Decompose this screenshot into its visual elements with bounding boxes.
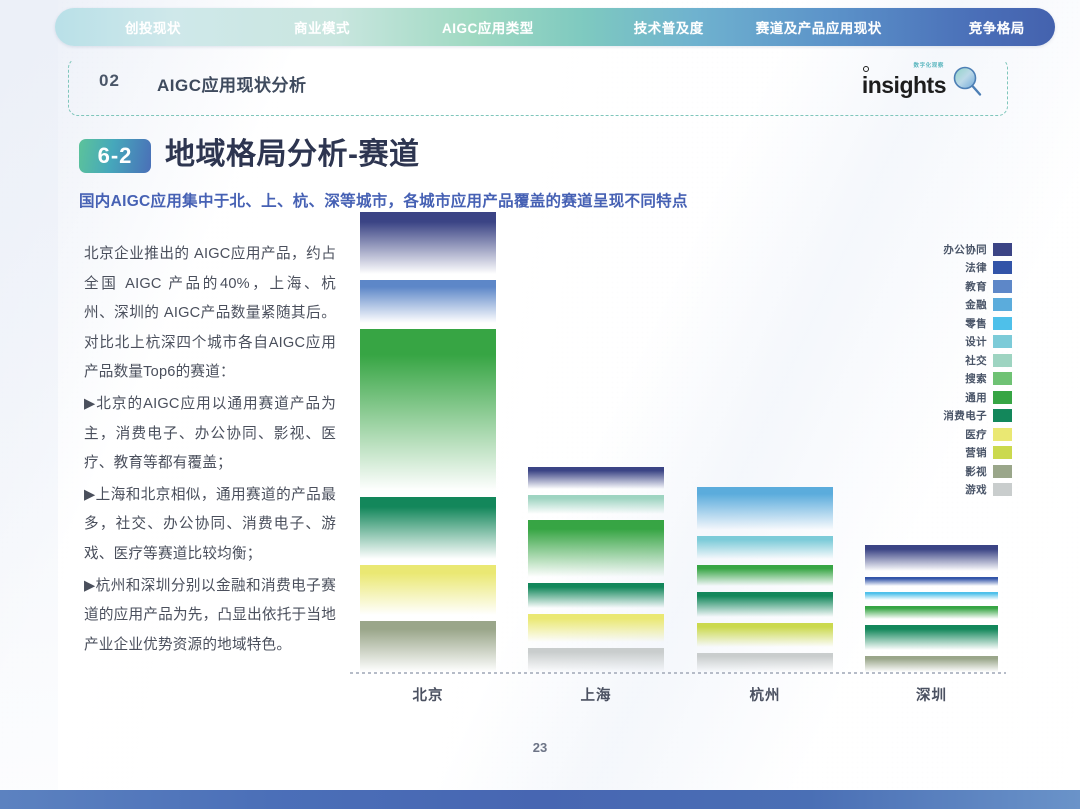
legend-item[interactable]: 零售 xyxy=(916,314,1012,333)
bar-segment[interactable] xyxy=(360,497,496,559)
left-edge-gradient xyxy=(0,0,58,809)
bar-segment[interactable] xyxy=(865,625,998,650)
nav-item-aigc-types[interactable]: AIGC应用类型 xyxy=(442,17,534,37)
legend-swatch xyxy=(993,243,1012,256)
legend-item[interactable]: 办公协同 xyxy=(916,240,1012,259)
legend-item[interactable]: 教育 xyxy=(916,277,1012,296)
bar-segment[interactable] xyxy=(697,487,833,530)
legend-swatch xyxy=(993,354,1012,367)
bar-segment[interactable] xyxy=(865,545,998,571)
legend-item[interactable]: 搜索 xyxy=(916,370,1012,389)
top-navigation-bar[interactable]: 创投现状 商业模式 AIGC应用类型 技术普及度 赛道及产品应用现状 竞争格局 xyxy=(55,8,1055,46)
legend-label: 金融 xyxy=(965,297,987,312)
nav-item-jishu[interactable]: 技术普及度 xyxy=(634,17,704,37)
legend-label: 游戏 xyxy=(965,482,987,497)
stacked-bar-chart: 北京上海杭州深圳 xyxy=(348,232,1008,712)
body-paragraph-2: ▶北京的AIGC应用以通用赛道产品为主，消费电子、办公协同、影视、医疗、教育等都… xyxy=(84,390,336,479)
x-axis-line xyxy=(350,672,1006,674)
bar-segment[interactable] xyxy=(528,467,664,489)
legend-label: 设计 xyxy=(965,334,987,349)
legend-item[interactable]: 通用 xyxy=(916,388,1012,407)
legend-item[interactable]: 社交 xyxy=(916,351,1012,370)
bar-segment[interactable] xyxy=(697,653,833,672)
nav-item-jingzheng[interactable]: 竞争格局 xyxy=(969,17,1025,37)
bar-group-北京[interactable] xyxy=(360,212,496,672)
section-number: 02 xyxy=(99,71,120,91)
logo-wordmark: insights 数字化观察 xyxy=(862,74,946,97)
legend-label: 营销 xyxy=(965,445,987,460)
legend-swatch xyxy=(993,409,1012,422)
bar-segment[interactable] xyxy=(528,583,664,608)
page-subtitle: 国内AIGC应用集中于北、上、杭、深等城市，各城市应用产品覆盖的赛道呈现不同特点 xyxy=(79,189,688,211)
legend-swatch xyxy=(993,446,1012,459)
x-axis-label-杭州: 杭州 xyxy=(697,684,833,705)
legend-swatch xyxy=(993,465,1012,478)
bar-group-杭州[interactable] xyxy=(697,487,833,672)
page-number: 23 xyxy=(0,740,1080,755)
logo-subtext: 数字化观察 xyxy=(913,64,944,70)
legend-item[interactable]: 影视 xyxy=(916,462,1012,481)
bar-segment[interactable] xyxy=(360,621,496,672)
bar-segment[interactable] xyxy=(360,565,496,615)
section-header: 02 AIGC应用现状分析 insights 数字化观察 xyxy=(68,58,1008,116)
body-paragraph-4: ▶杭州和深圳分别以金融和消费电子赛道的应用产品为先，凸显出依托于当地产业企业优势… xyxy=(84,572,336,661)
bar-segment[interactable] xyxy=(865,606,998,619)
insights-logo: insights 数字化观察 xyxy=(862,65,985,97)
legend-swatch xyxy=(993,317,1012,330)
page-title: 地域格局分析-赛道 xyxy=(165,134,420,176)
bar-group-上海[interactable] xyxy=(528,467,664,672)
legend-item[interactable]: 法律 xyxy=(916,259,1012,278)
legend-swatch xyxy=(993,483,1012,496)
nav-item-saidao[interactable]: 赛道及产品应用现状 xyxy=(756,17,882,37)
nav-item-shangye[interactable]: 商业模式 xyxy=(294,17,350,37)
bar-segment[interactable] xyxy=(360,280,496,323)
legend-label: 社交 xyxy=(965,353,987,368)
legend-label: 医疗 xyxy=(965,427,987,442)
body-paragraph-3: ▶上海和北京相似，通用赛道的产品最多，社交、办公协同、消费电子、游戏、医疗等赛道… xyxy=(84,481,336,570)
legend-swatch xyxy=(993,280,1012,293)
x-axis-label-深圳: 深圳 xyxy=(865,684,998,705)
legend-swatch xyxy=(993,298,1012,311)
nav-item-chuangtou[interactable]: 创投现状 xyxy=(125,17,181,37)
bar-segment[interactable] xyxy=(865,656,998,672)
legend-label: 搜索 xyxy=(965,371,987,386)
legend-item[interactable]: 金融 xyxy=(916,296,1012,315)
x-axis-label-上海: 上海 xyxy=(528,684,664,705)
bar-segment[interactable] xyxy=(528,648,664,672)
legend-item[interactable]: 游戏 xyxy=(916,481,1012,500)
legend-item[interactable]: 医疗 xyxy=(916,425,1012,444)
bar-segment[interactable] xyxy=(697,536,833,559)
legend-item[interactable]: 设计 xyxy=(916,333,1012,352)
body-paragraph-1: 北京企业推出的 AIGC应用产品，约占全国 AIGC 产品的40%，上海、杭州、… xyxy=(84,240,336,388)
legend-swatch xyxy=(993,391,1012,404)
legend-label: 消费电子 xyxy=(943,408,987,423)
bar-segment[interactable] xyxy=(697,592,833,617)
section-badge: 6-2 xyxy=(79,139,151,173)
bar-segment[interactable] xyxy=(865,592,998,600)
slide-page: 创投现状 商业模式 AIGC应用类型 技术普及度 赛道及产品应用现状 竞争格局 … xyxy=(0,0,1080,809)
legend-label: 教育 xyxy=(965,279,987,294)
legend-label: 法律 xyxy=(965,260,987,275)
bar-segment[interactable] xyxy=(697,623,833,647)
bar-segment[interactable] xyxy=(528,495,664,514)
bar-segment[interactable] xyxy=(697,565,833,586)
footer-bar xyxy=(0,790,1080,809)
legend-swatch xyxy=(993,335,1012,348)
bar-group-深圳[interactable] xyxy=(865,545,998,672)
magnifier-icon xyxy=(951,65,985,99)
chart-plot-area xyxy=(348,232,1008,672)
logo-text: insights xyxy=(862,72,946,98)
bar-segment[interactable] xyxy=(865,577,998,586)
legend-label: 通用 xyxy=(965,390,987,405)
legend-swatch xyxy=(993,428,1012,441)
section-title: AIGC应用现状分析 xyxy=(157,71,307,96)
body-text-block: 北京企业推出的 AIGC应用产品，约占全国 AIGC 产品的40%，上海、杭州、… xyxy=(84,240,336,660)
bar-segment[interactable] xyxy=(528,520,664,577)
bar-segment[interactable] xyxy=(360,212,496,274)
bar-segment[interactable] xyxy=(528,614,664,642)
legend-label: 零售 xyxy=(965,316,987,331)
x-axis-label-北京: 北京 xyxy=(360,684,496,705)
legend-item[interactable]: 营销 xyxy=(916,444,1012,463)
legend-item[interactable]: 消费电子 xyxy=(916,407,1012,426)
chart-legend: 办公协同法律教育金融零售设计社交搜索通用消费电子医疗营销影视游戏 xyxy=(916,240,1012,499)
bar-segment[interactable] xyxy=(360,329,496,491)
legend-label: 办公协同 xyxy=(943,242,987,257)
legend-label: 影视 xyxy=(965,464,987,479)
legend-swatch xyxy=(993,261,1012,274)
logo-dot-icon xyxy=(863,66,869,72)
legend-swatch xyxy=(993,372,1012,385)
